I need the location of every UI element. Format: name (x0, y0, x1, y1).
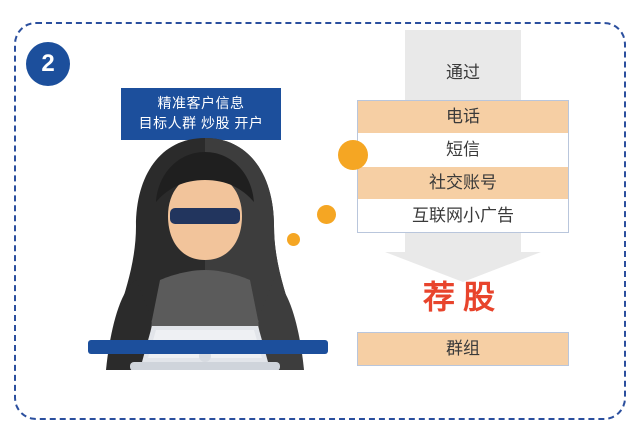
speech-bubble-dots-icon (338, 140, 368, 170)
list-item: 短信 (358, 134, 568, 167)
customer-info-line1: 精准客户信息 (121, 93, 281, 113)
diagram-canvas: 2 精准客户信息 目标人群 炒股 开户 通过 电话 短信 社交账号 互联网小广告… (0, 0, 640, 434)
step-number-badge: 2 (26, 42, 70, 86)
desk-bar (88, 340, 328, 354)
group-label: 群组 (357, 332, 569, 366)
result-label: 荐股 (357, 272, 569, 318)
list-item: 社交账号 (358, 167, 568, 200)
list-item: 电话 (358, 101, 568, 134)
hooded-hacker-with-laptop-icon (90, 130, 320, 370)
list-item: 互联网小广告 (358, 200, 568, 232)
through-label: 通过 (405, 58, 521, 83)
channel-list: 电话 短信 社交账号 互联网小广告 (357, 100, 569, 233)
